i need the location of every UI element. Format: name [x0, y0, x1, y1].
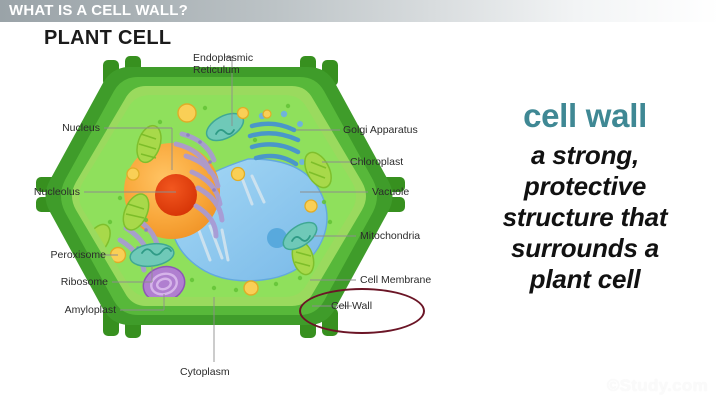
plant-cell-diagram — [0, 22, 455, 404]
label-endoplasmic-reticulum-line1: Endoplasmic — [193, 52, 253, 64]
header-banner: WHAT IS A CELL WALL? — [0, 0, 720, 22]
nucleolus — [155, 174, 197, 216]
label-amyloplast: Amyloplast — [0, 304, 116, 316]
label-nucleolus: Nucleolus — [0, 186, 80, 198]
label-peroxisome: Peroxisome — [0, 249, 106, 261]
definition-text: a strong, protective structure that surr… — [452, 140, 718, 295]
study-com-watermark: ©Study.com — [607, 376, 708, 396]
slide-canvas: WHAT IS A CELL WALL? PLANT CELL — [0, 0, 720, 404]
label-nucleus: Nucleus — [0, 122, 100, 134]
label-cytoplasm: Cytoplasm — [180, 366, 230, 378]
label-mitochondria: Mitochondria — [360, 230, 420, 242]
cell-wall-highlight-ellipse — [299, 288, 425, 334]
label-ribosome: Ribosome — [0, 276, 108, 288]
definition-line: structure that — [452, 202, 718, 233]
label-vacuole: Vacuole — [372, 186, 409, 198]
definition-line: surrounds a — [452, 233, 718, 264]
banner-title: WHAT IS A CELL WALL? — [9, 2, 188, 19]
label-cell-membrane: Cell Membrane — [360, 274, 431, 286]
label-chloroplast: Chloroplast — [350, 156, 403, 168]
label-golgi-apparatus: Golgi Apparatus — [343, 124, 418, 136]
definition-line: protective — [452, 171, 718, 202]
definition-term: cell wall — [455, 97, 715, 135]
definition-line: a strong, — [452, 140, 718, 171]
definition-line: plant cell — [452, 264, 718, 295]
label-endoplasmic-reticulum-line2: Reticulum — [193, 64, 240, 76]
